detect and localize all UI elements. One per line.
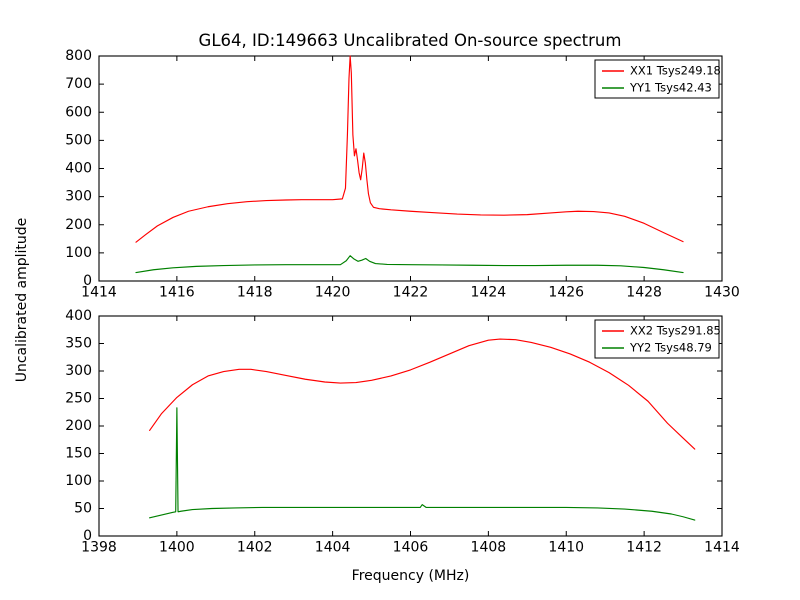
bottom-panel-y-tick-label: 350 — [65, 336, 92, 352]
top-panel-y-tick-label: 500 — [65, 132, 92, 148]
bottom-panel-x-tick-label: 1412 — [626, 540, 662, 556]
top-panel-legend-label: XX1 Tsys249.18 — [630, 64, 721, 78]
bottom-panel-y-tick-label: 400 — [65, 308, 92, 324]
plot-title: GL64, ID:149663 Uncalibrated On-source s… — [199, 31, 622, 50]
top-panel-y-tick-label: 200 — [65, 217, 92, 233]
bottom-panel-y-tick-label: 300 — [65, 363, 92, 379]
top-panel-x-tick-label: 1420 — [315, 285, 351, 301]
top-panel-x-tick-label: 1426 — [548, 285, 584, 301]
top-panel-y-tick-label: 400 — [65, 161, 92, 177]
bottom-panel-y-tick-label: 250 — [65, 391, 92, 407]
x-axis-label: Frequency (MHz) — [352, 568, 470, 584]
top-panel-y-tick-label: 600 — [65, 104, 92, 120]
bottom-panel-y-tick-label: 50 — [74, 501, 92, 517]
bottom-panel-x-tick-label: 1402 — [237, 540, 273, 556]
top-panel-y-tick-label: 0 — [83, 273, 92, 289]
top-panel-x-tick-label: 1416 — [159, 285, 195, 301]
top-panel-y-tick-label: 800 — [65, 48, 92, 64]
top-panel-x-tick-label: 1422 — [393, 285, 429, 301]
bottom-panel-x-tick-label: 1404 — [315, 540, 351, 556]
top-panel-x-tick-label: 1428 — [626, 285, 662, 301]
top-panel-series-yy — [136, 256, 683, 273]
bottom-panel-x-tick-label: 1406 — [393, 540, 429, 556]
bottom-panel-series-yy — [150, 408, 695, 520]
plot-canvas: GL64, ID:149663 Uncalibrated On-source s… — [0, 0, 800, 600]
bottom-panel-y-tick-label: 100 — [65, 473, 92, 489]
bottom-panel-x-tick-label: 1400 — [159, 540, 195, 556]
bottom-panel-legend-label: YY2 Tsys48.79 — [629, 341, 712, 355]
bottom-panel-x-tick-label: 1410 — [548, 540, 584, 556]
top-panel-legend-label: YY1 Tsys42.43 — [629, 81, 712, 95]
spectrum-figure: GL64, ID:149663 Uncalibrated On-source s… — [0, 0, 800, 600]
bottom-panel-x-tick-label: 1408 — [471, 540, 507, 556]
bottom-panel-y-tick-label: 0 — [83, 528, 92, 544]
bottom-panel-x-tick-label: 1414 — [704, 540, 740, 556]
top-panel-y-tick-label: 300 — [65, 189, 92, 205]
top-panel-x-tick-label: 1424 — [471, 285, 507, 301]
top-panel-x-tick-label: 1418 — [237, 285, 273, 301]
bottom-panel-y-tick-label: 200 — [65, 418, 92, 434]
bottom-panel-legend-label: XX2 Tsys291.85 — [630, 324, 721, 338]
top-panel-y-tick-label: 100 — [65, 245, 92, 261]
top-panel-x-tick-label: 1430 — [704, 285, 740, 301]
top-panel-y-tick-label: 700 — [65, 76, 92, 92]
y-axis-label: Uncalibrated amplitude — [14, 218, 30, 383]
bottom-panel-y-tick-label: 150 — [65, 446, 92, 462]
